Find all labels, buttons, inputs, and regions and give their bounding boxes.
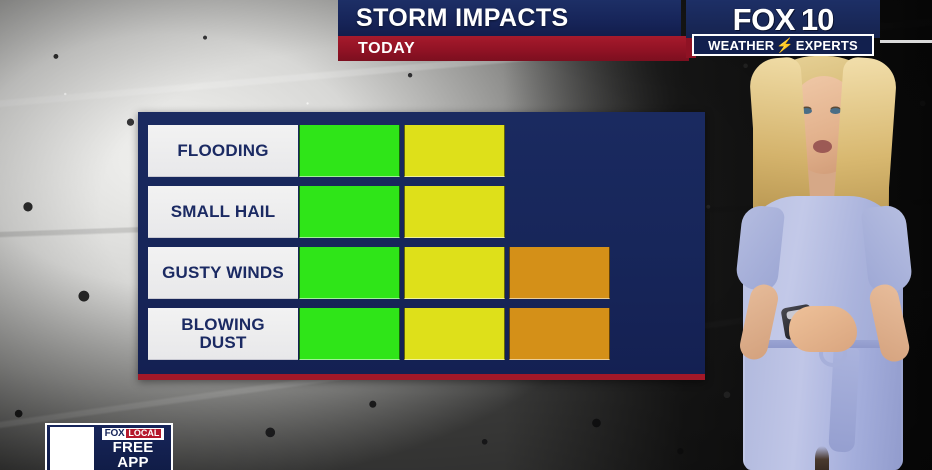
impact-label-line: SMALL HAIL <box>171 202 276 221</box>
qr-code-icon[interactable] <box>50 427 94 470</box>
severity-segment-green <box>299 308 400 360</box>
anchor-sleeve-right <box>861 204 914 294</box>
severity-segment-green <box>299 125 400 177</box>
fox-local-brand: FOX <box>105 429 125 439</box>
severity-segment-orange <box>509 308 610 360</box>
app-badge-text: FOX LOCAL FREE APP <box>94 428 168 470</box>
impact-label-text: SMALL HAIL <box>171 203 276 221</box>
fox-local-suffix: LOCAL <box>126 429 161 438</box>
impact-label-line: FLOODING <box>177 141 268 160</box>
broadcast-screen: STORM IMPACTS TODAY FOX 10 WEATHER ⚡ EXP… <box>0 0 932 470</box>
impact-label-text: GUSTY WINDS <box>162 264 284 282</box>
page-title: STORM IMPACTS <box>338 4 569 33</box>
tagline-weather: WEATHER <box>708 38 774 53</box>
station-logo-name: FOX 10 <box>686 0 880 38</box>
severity-segment-green <box>299 247 400 299</box>
severity-segment-green <box>299 186 400 238</box>
impact-label-line: DUST <box>199 333 246 352</box>
top-right-divider <box>880 40 932 43</box>
lightning-bolt-icon: ⚡ <box>775 37 794 54</box>
station-channel-number: 10 <box>801 4 833 35</box>
impact-row: BLOWINGDUST <box>148 308 695 360</box>
station-logo: FOX 10 WEATHER ⚡ EXPERTS <box>686 0 880 62</box>
impact-label: GUSTY WINDS <box>148 247 298 299</box>
impact-rows: FLOODINGSMALL HAILGUSTY WINDSBLOWINGDUST <box>148 125 695 360</box>
anchor-mouth <box>813 140 832 153</box>
graphic-subtitle: TODAY <box>338 40 415 58</box>
graphic-title-bar: STORM IMPACTS <box>338 0 681 36</box>
station-tagline: WEATHER ⚡ EXPERTS <box>692 34 874 56</box>
impact-row: FLOODING <box>148 125 695 177</box>
tagline-experts: EXPERTS <box>796 38 858 53</box>
anchor-skirt-slit <box>815 446 829 470</box>
severity-segment-yellow <box>404 247 505 299</box>
panel-bottom-accent <box>138 374 705 380</box>
impact-label-line: BLOWING <box>181 315 265 334</box>
meteorologist-figure <box>715 48 932 470</box>
impact-severity-track <box>298 186 695 238</box>
impact-row: SMALL HAIL <box>148 186 695 238</box>
impact-severity-track <box>298 125 695 177</box>
graphic-subtitle-bar: TODAY <box>338 36 689 61</box>
impact-label: FLOODING <box>148 125 298 177</box>
anchor-hands <box>789 306 857 352</box>
impact-label-text: BLOWINGDUST <box>181 316 265 352</box>
severity-segment-orange <box>509 247 610 299</box>
fox-local-wordmark: FOX LOCAL <box>102 428 165 440</box>
severity-segment-yellow <box>404 125 505 177</box>
impact-row: GUSTY WINDS <box>148 247 695 299</box>
impact-label: SMALL HAIL <box>148 186 298 238</box>
storm-impacts-panel: FLOODINGSMALL HAILGUSTY WINDSBLOWINGDUST <box>138 112 705 380</box>
station-name-word: FOX <box>733 4 795 35</box>
severity-segment-yellow <box>404 308 505 360</box>
severity-segment-yellow <box>404 186 505 238</box>
free-app-badge[interactable]: FOX LOCAL FREE APP <box>45 423 173 470</box>
impact-severity-track <box>298 308 695 360</box>
impact-label: BLOWINGDUST <box>148 308 298 360</box>
impact-label-line: GUSTY WINDS <box>162 263 284 282</box>
impact-label-text: FLOODING <box>177 142 268 160</box>
app-promo-line2: APP <box>117 455 148 470</box>
app-promo-line1: FREE <box>113 440 154 455</box>
impact-severity-track <box>298 247 695 299</box>
